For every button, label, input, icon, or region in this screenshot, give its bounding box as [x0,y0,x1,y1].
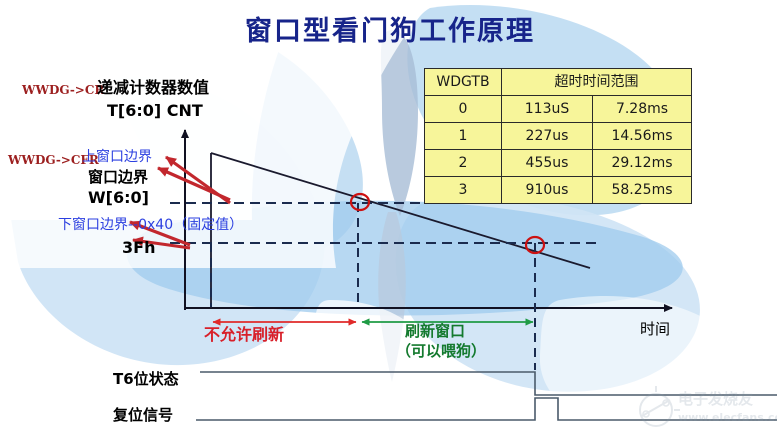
lower-window-label: 下窗口边界--0x40（固定值） [58,218,243,232]
wdgtb-timeout-table: WDGTB 超时时间范围 0 113uS 7.28ms 1 227us 14.5… [424,68,692,204]
cell-wdgtb: 1 [425,123,502,150]
forbidden-zone-label: 不允许刷新 [204,327,284,343]
cell-wdgtb: 0 [425,96,502,123]
signal-label-reset: 复位信号 [113,408,173,423]
refresh-window-label: 刷新窗口 [405,324,465,339]
table-row: 1 227us 14.56ms [425,123,692,150]
counter-name-label: 递减计数器数值 [97,80,209,96]
cell-min: 455us [502,150,593,177]
time-axis-label: 时间 [640,322,670,337]
table-header-wdgtb: WDGTB [425,69,502,96]
table-row: 3 910us 58.25ms [425,177,692,204]
cell-max: 14.56ms [593,123,692,150]
refresh-window-sub-label: （可以喂狗） [396,344,486,359]
cell-wdgtb: 2 [425,150,502,177]
cell-min: 227us [502,123,593,150]
table-header-row: WDGTB 超时时间范围 [425,69,692,96]
signal-label-t6: T6位状态 [113,372,179,387]
cell-min: 113uS [502,96,593,123]
table-row: 2 455us 29.12ms [425,150,692,177]
cell-max: 58.25ms [593,177,692,204]
cell-max: 7.28ms [593,96,692,123]
table-header-timeout-range: 超时时间范围 [502,69,692,96]
table-row: 0 113uS 7.28ms [425,96,692,123]
watermark: 电子发烧友 www.elecfans.com [636,386,772,432]
upper-window-label: 上窗口边界 [82,150,152,164]
watermark-name: 电子发烧友 [678,392,753,407]
callout-arrow-window-bound [158,168,230,200]
diagram-canvas: 窗口型看门狗工作原理 WWDG->CR 递减计数器数值 T[6:0] CNT W… [0,0,777,438]
cell-min: 910us [502,177,593,204]
page-title: 窗口型看门狗工作原理 [245,18,535,45]
watermark-url: www.elecfans.com [678,412,777,423]
cell-wdgtb: 3 [425,177,502,204]
cell-max: 29.12ms [593,150,692,177]
window-bound-label: 窗口边界 [88,170,148,185]
window-bits-label: W[6:0] [88,190,149,206]
cr-register-label: WWDG->CR [22,84,104,96]
redaction-patch [299,326,365,346]
lower-window-value-label: 3Fh [122,240,155,256]
counter-bits-label: T[6:0] CNT [107,103,203,119]
